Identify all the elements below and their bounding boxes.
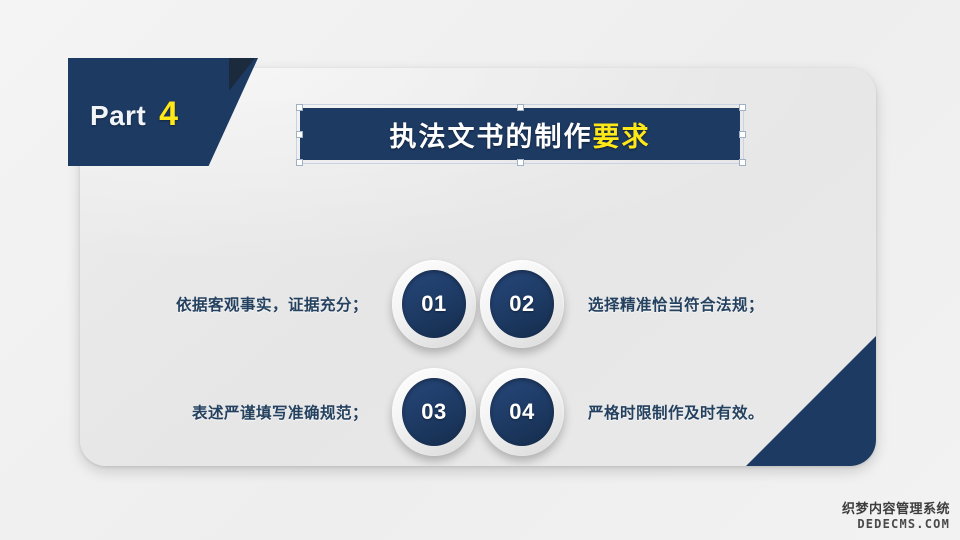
item-circle-03[interactable]: 03	[390, 366, 478, 458]
circle-number-04: 04	[509, 399, 534, 425]
part-label: Part	[90, 100, 146, 132]
selection-handle-bc[interactable]	[517, 159, 524, 166]
slide-title-bar[interactable]: 执法文书的制作要求	[300, 108, 740, 160]
selection-handle-br[interactable]	[739, 159, 746, 166]
item-label-02: 选择精准恰当符合法规；	[566, 293, 856, 315]
watermark: 织梦内容管理系统 DEDECMS.COM	[842, 501, 950, 532]
circle-core: 03	[402, 378, 466, 446]
slide-title: 执法文书的制作要求	[390, 115, 651, 154]
selection-handle-bl[interactable]	[296, 159, 303, 166]
selection-handle-tr[interactable]	[739, 104, 746, 111]
items-row-bottom: 表述严谨填写准确规范； 03 04 严格时限制作及时有效。	[80, 358, 876, 466]
watermark-chinese: 织梦内容管理系统	[842, 501, 950, 517]
circle-ring: 02	[480, 260, 564, 348]
item-circle-02[interactable]: 02	[478, 258, 566, 350]
selection-handle-mr[interactable]	[739, 131, 746, 138]
item-circle-04[interactable]: 04	[478, 366, 566, 458]
circle-ring: 03	[392, 368, 476, 456]
selection-handle-tc[interactable]	[517, 104, 524, 111]
item-label-01: 依据客观事实，证据充分；	[100, 293, 390, 315]
circle-number-03: 03	[421, 399, 446, 425]
circle-ring: 01	[392, 260, 476, 348]
selection-handle-ml[interactable]	[296, 131, 303, 138]
selection-handle-tl[interactable]	[296, 104, 303, 111]
items-grid: 依据客观事实，证据充分； 01 02 选择精准恰当符合法规	[80, 250, 876, 466]
watermark-english: DEDECMS.COM	[842, 517, 950, 532]
circle-number-02: 02	[509, 291, 534, 317]
item-circle-01[interactable]: 01	[390, 258, 478, 350]
part-banner-inner: Part 4	[68, 95, 178, 134]
presentation-slide: 依据客观事实，证据充分； 01 02 选择精准恰当符合法规	[0, 0, 960, 540]
circle-core: 04	[490, 378, 554, 446]
circle-core: 02	[490, 270, 554, 338]
circle-number-01: 01	[421, 291, 446, 317]
item-label-04: 严格时限制作及时有效。	[566, 401, 856, 423]
circle-core: 01	[402, 270, 466, 338]
part-number: 4	[159, 95, 178, 134]
items-row-top: 依据客观事实，证据充分； 01 02 选择精准恰当符合法规	[80, 250, 876, 358]
circle-ring: 04	[480, 368, 564, 456]
item-label-03: 表述严谨填写准确规范；	[100, 401, 390, 423]
